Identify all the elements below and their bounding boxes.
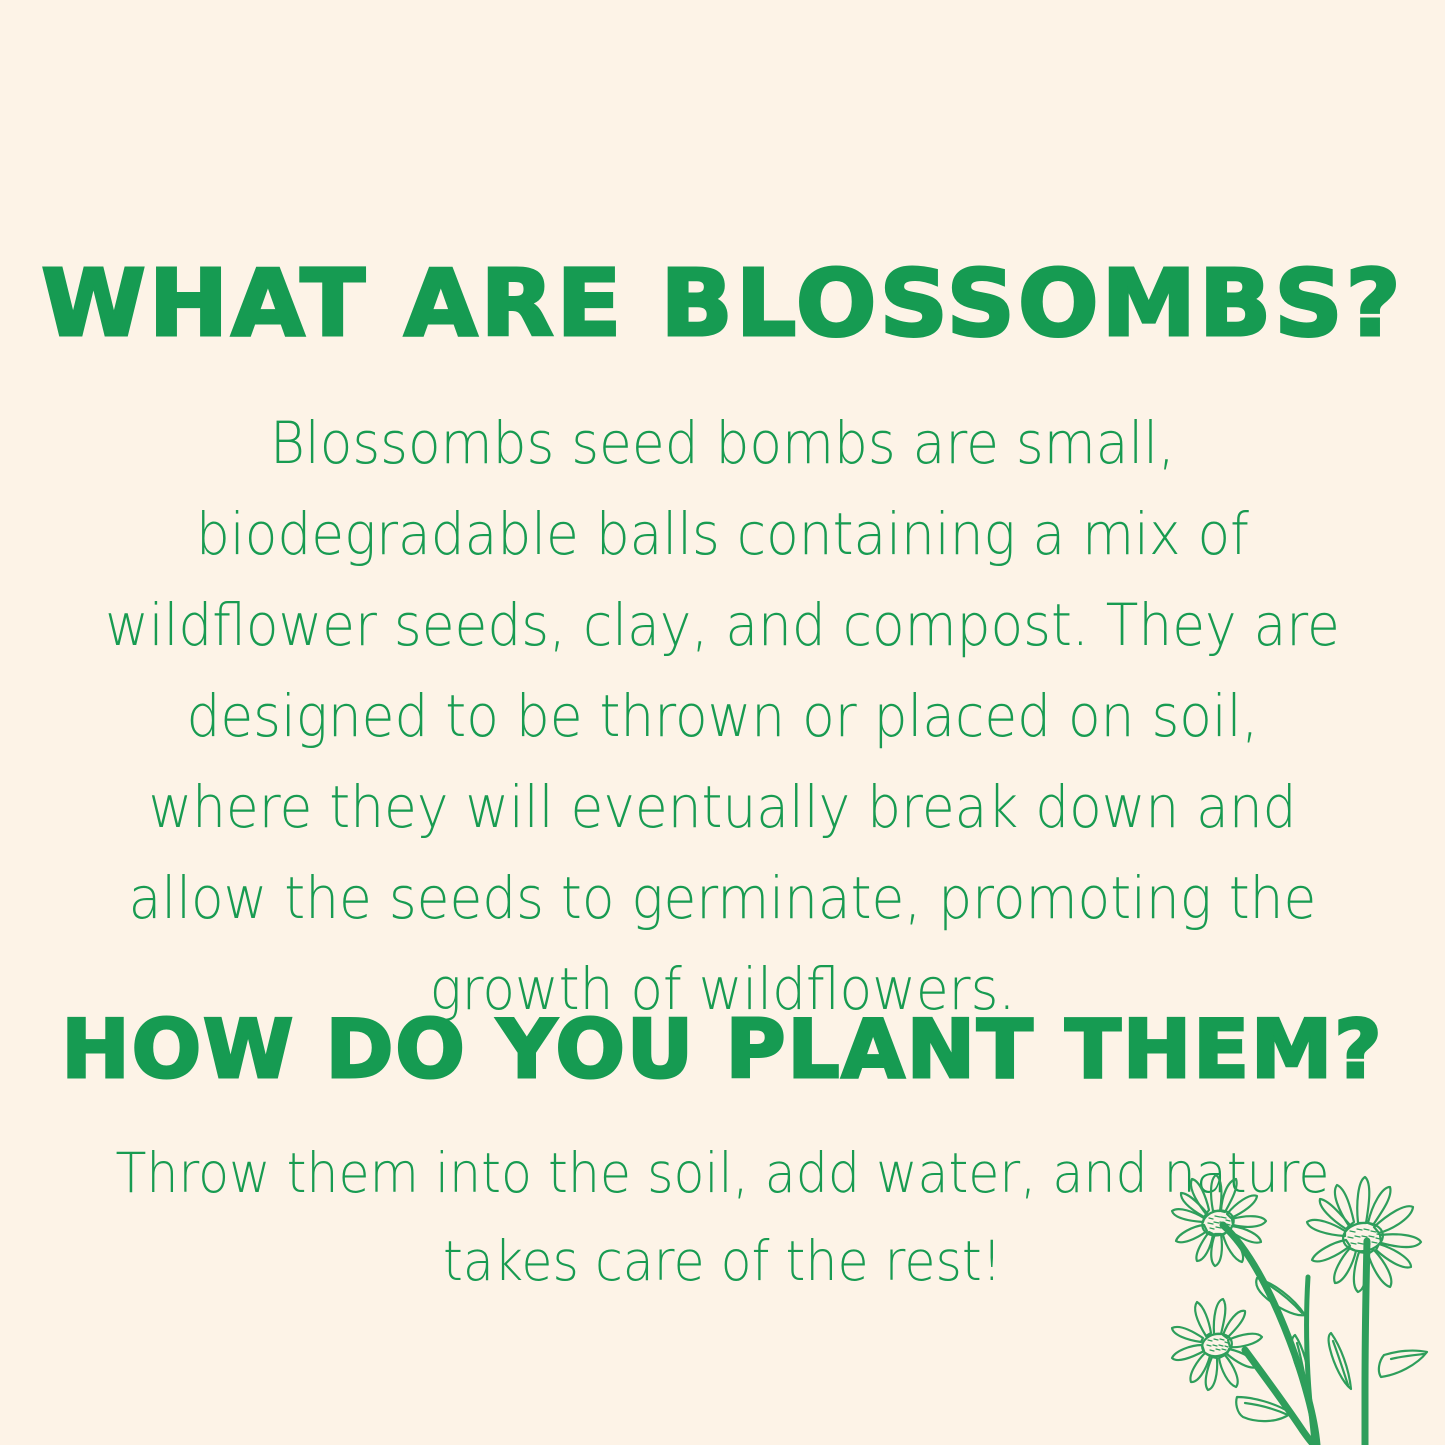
section-heading-what-are-blossombs: WHAT ARE BLOSSOMBS? (0, 258, 1445, 350)
section-body-how-do-you-plant-them: Throw them into the soil, add water, and… (104, 1129, 1341, 1305)
section-heading-how-do-you-plant-them: HOW DO YOU PLANT THEM? (0, 1010, 1445, 1090)
poster-canvas: WHAT ARE BLOSSOMBS? Blossombs seed bombs… (0, 0, 1445, 1445)
section-body-what-are-blossombs: Blossombs seed bombs are small, biodegra… (104, 398, 1341, 1035)
